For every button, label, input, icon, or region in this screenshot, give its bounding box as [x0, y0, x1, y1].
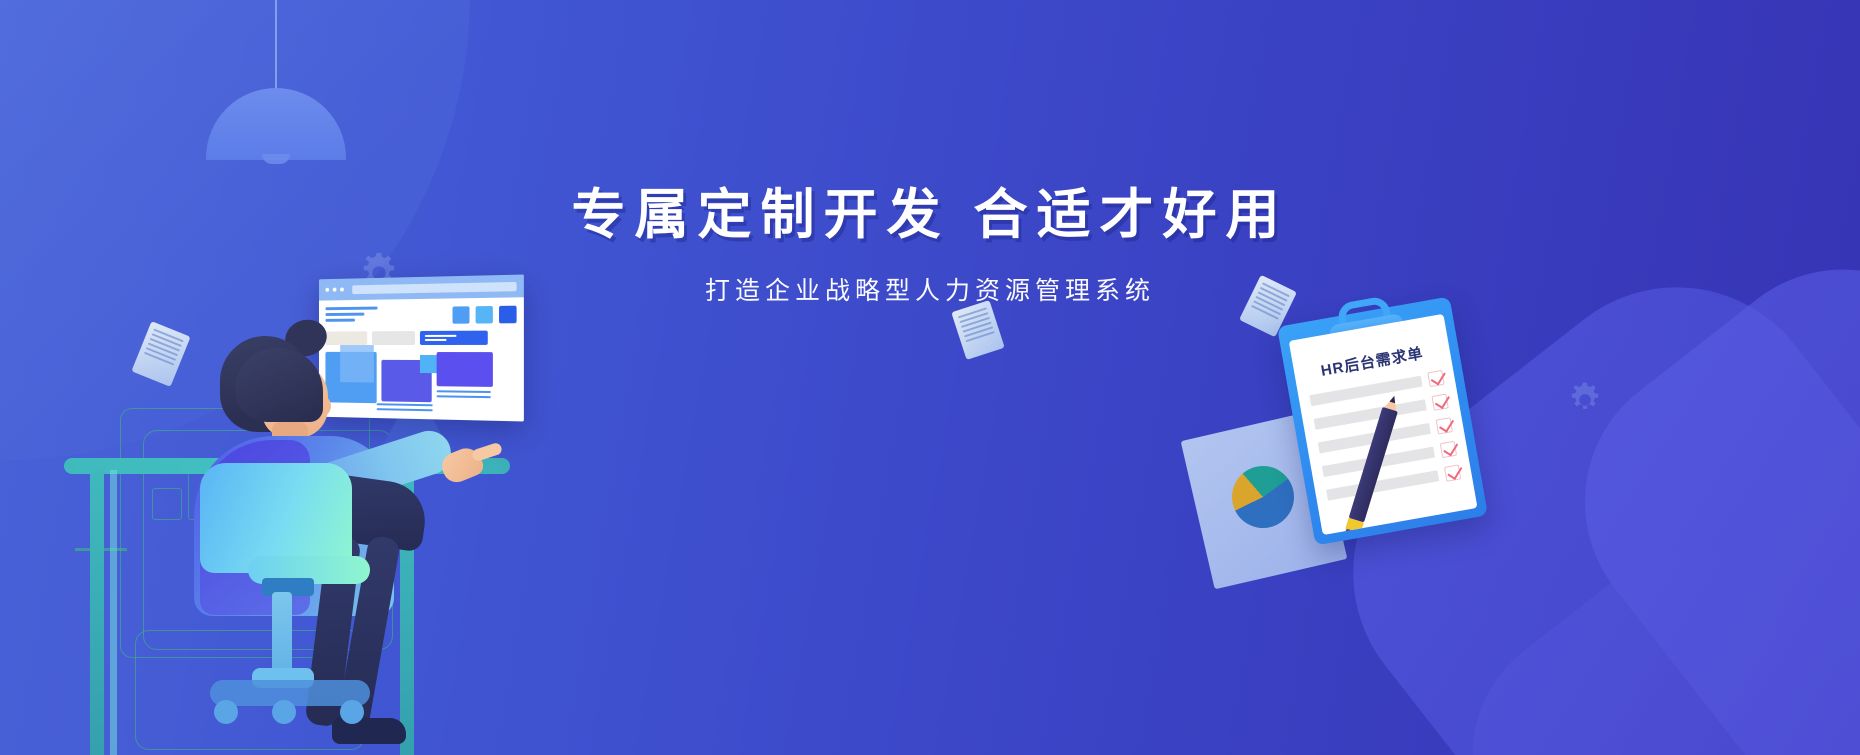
hero-copy: 专属定制开发 合适才好用 打造企业战略型人力资源管理系统 [0, 186, 1860, 307]
pendant-lamp-icon [206, 0, 346, 160]
hair-front [235, 348, 323, 422]
check-icon [1436, 417, 1453, 434]
check-icon [1427, 370, 1444, 387]
clipboard-paper: HR后台需求单 [1289, 314, 1478, 535]
check-icon [1444, 464, 1461, 481]
check-icon [1431, 394, 1448, 411]
hero-banner: HR后台需求单 [0, 0, 1860, 755]
lamp-dome [206, 88, 346, 160]
check-icon [1440, 441, 1457, 458]
page-title: 专属定制开发 合适才好用 [0, 186, 1860, 245]
wireframe-outline [152, 488, 182, 520]
shoe [332, 718, 406, 744]
lamp-cord [275, 0, 277, 92]
page-subtitle: 打造企业战略型人力资源管理系统 [0, 271, 1860, 307]
chair-wheel [214, 700, 238, 724]
chair-wheel [340, 700, 364, 724]
pointing-finger [471, 442, 503, 463]
chair-post [272, 592, 292, 674]
desk-leg [90, 470, 104, 755]
gear-icon [1565, 380, 1605, 420]
desk-leg-highlight [110, 470, 117, 755]
chair-wheel [272, 700, 296, 724]
